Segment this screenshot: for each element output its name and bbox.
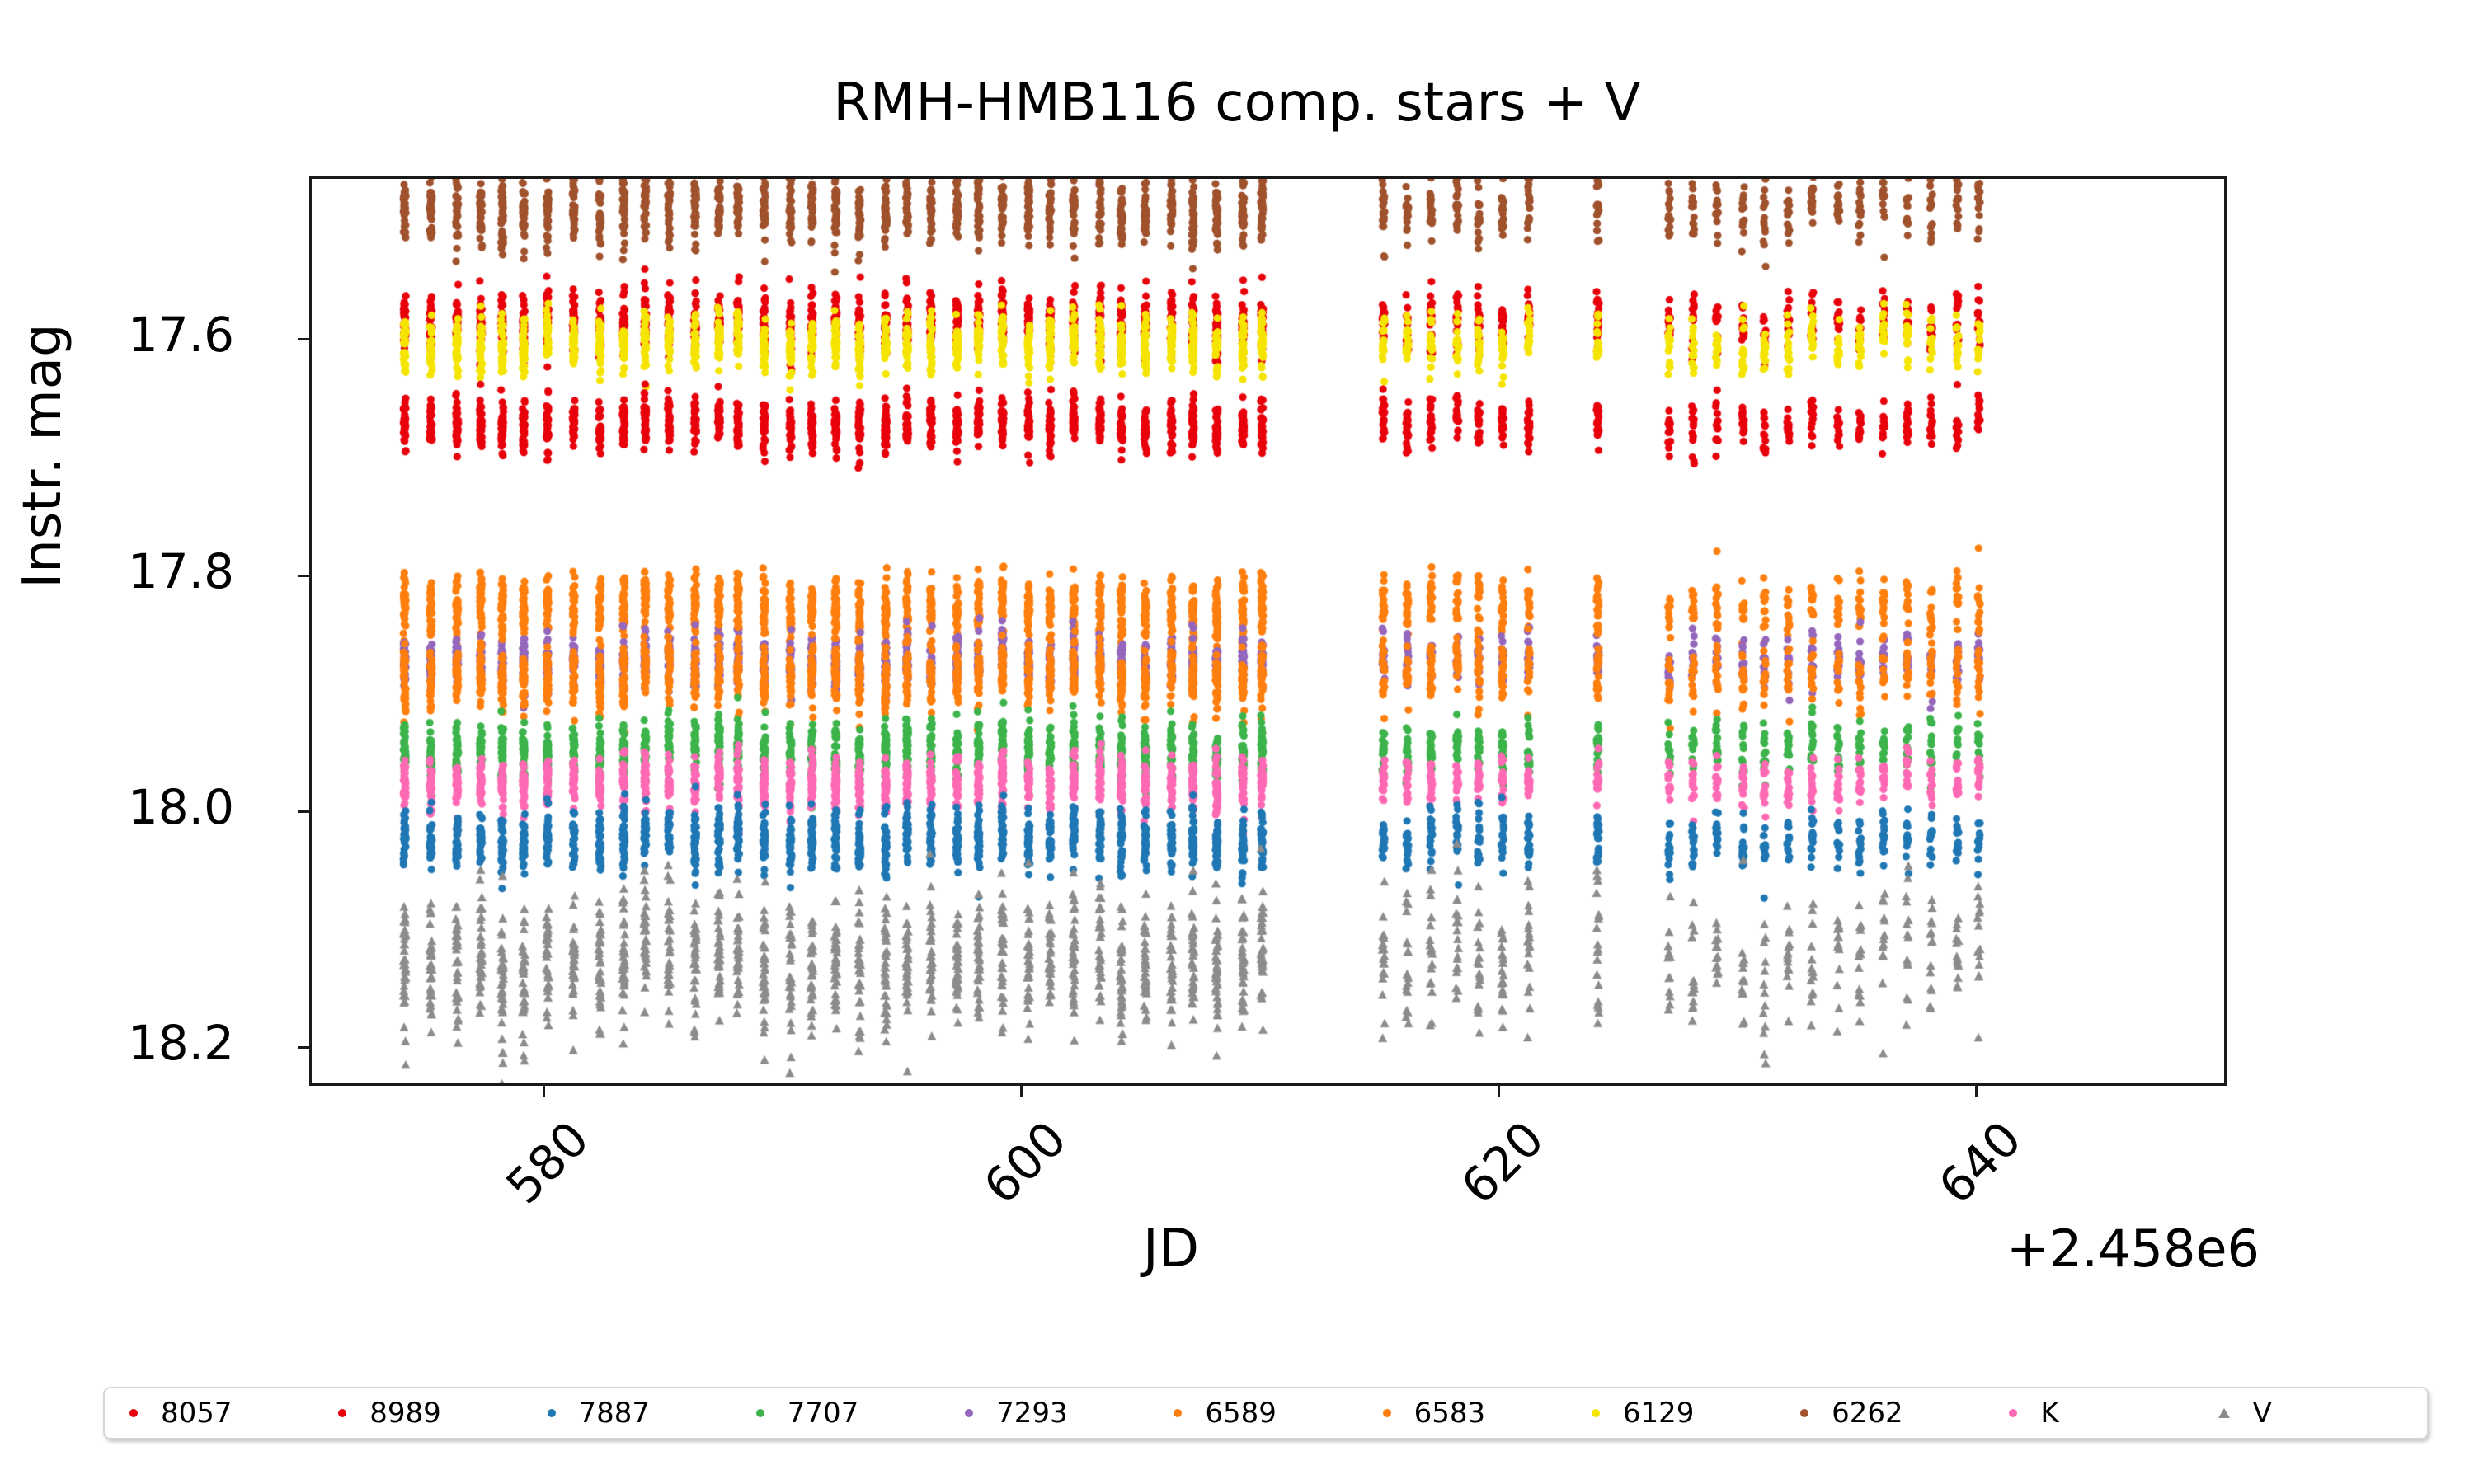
y-tick-mark	[298, 1046, 309, 1049]
legend-item-6583[interactable]: 6583	[1383, 1399, 1592, 1427]
y-tick-label: 18.2	[0, 1019, 234, 1067]
legend-item-6589[interactable]: 6589	[1174, 1399, 1382, 1427]
x-tick-mark	[1020, 1086, 1023, 1097]
legend-item-6262[interactable]: 6262	[1800, 1399, 2009, 1427]
legend-label: V	[2253, 1399, 2272, 1427]
y-tick-mark	[298, 338, 309, 340]
legend-item-v[interactable]: V	[2218, 1399, 2427, 1427]
y-axis-label: Instr. mag	[12, 225, 73, 687]
legend-label: 7707	[788, 1399, 859, 1427]
x-tick-mark	[1498, 1086, 1500, 1097]
y-tick-mark	[298, 575, 309, 577]
legend-marker-8057-icon	[129, 1409, 138, 1417]
legend-item-7293[interactable]: 7293	[965, 1399, 1174, 1427]
y-tick-label: 18.0	[0, 783, 234, 831]
legend-item-7887[interactable]: 7887	[548, 1399, 756, 1427]
scatter-plot-canvas	[312, 179, 2224, 1083]
plot-area	[309, 176, 2227, 1086]
x-tick-mark	[1975, 1086, 1978, 1097]
legend-label: 7887	[579, 1399, 651, 1427]
legend-marker-6583-icon	[1383, 1409, 1391, 1417]
y-tick-mark	[298, 810, 309, 813]
legend-item-7707[interactable]: 7707	[756, 1399, 965, 1427]
x-axis-label: JD	[957, 1219, 1385, 1280]
legend-marker-8989-icon	[338, 1409, 346, 1417]
legend-item-8057[interactable]: 8057	[105, 1399, 338, 1427]
x-tick-label: 580	[431, 1111, 600, 1279]
x-axis-offset-text: +2.458e6	[1798, 1219, 2260, 1279]
legend-marker-7707-icon	[756, 1409, 764, 1417]
legend-marker-6262-icon	[1800, 1409, 1808, 1417]
legend-marker-7887-icon	[548, 1409, 556, 1417]
legend-item-k[interactable]: K	[2009, 1399, 2218, 1427]
x-tick-label: 620	[1386, 1111, 1554, 1279]
legend-marker-k-icon	[2009, 1409, 2017, 1417]
legend[interactable]: 805789897887770772936589658361296262KV	[103, 1387, 2429, 1439]
legend-item-6129[interactable]: 6129	[1592, 1399, 1800, 1427]
legend-label: 7293	[996, 1399, 1068, 1427]
legend-label: 8057	[161, 1399, 233, 1427]
legend-label: 6583	[1414, 1399, 1486, 1427]
legend-marker-6589-icon	[1174, 1409, 1182, 1417]
legend-label: 6262	[1832, 1399, 1903, 1427]
y-tick-label: 17.8	[0, 547, 234, 595]
legend-label: 6129	[1623, 1399, 1695, 1427]
x-tick-mark	[543, 1086, 545, 1097]
page-title: RMH-HMB116 comp. stars + V	[0, 73, 2474, 134]
legend-item-8989[interactable]: 8989	[338, 1399, 547, 1427]
legend-marker-6129-icon	[1592, 1409, 1600, 1417]
legend-label: K	[2040, 1399, 2058, 1427]
legend-marker-7293-icon	[965, 1409, 973, 1417]
legend-label: 8989	[369, 1399, 441, 1427]
chart-page: RMH-HMB116 comp. stars + V Instr. mag 17…	[0, 0, 2474, 1484]
legend-marker-v-icon	[2218, 1408, 2230, 1418]
y-tick-label: 17.6	[0, 311, 234, 359]
legend-label: 6589	[1205, 1399, 1277, 1427]
